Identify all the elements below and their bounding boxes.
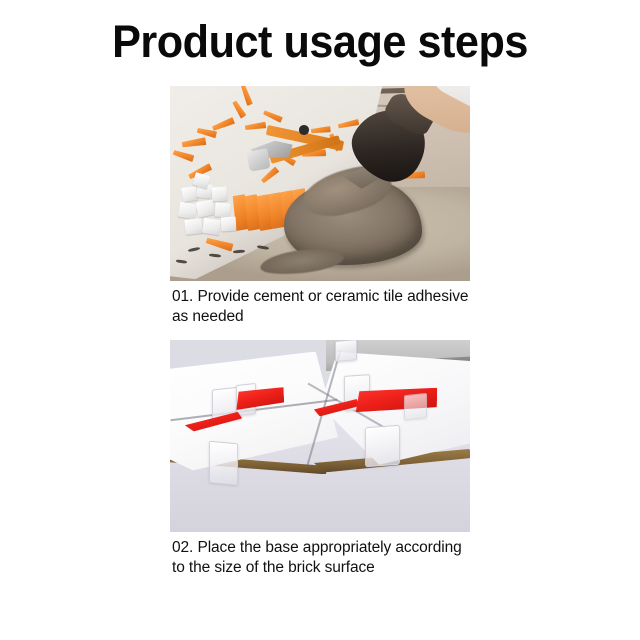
white-clip: [221, 216, 237, 230]
leveling-clip-front-center: [365, 425, 400, 468]
step-block-02: 02. Place the base appropriately accordi…: [170, 340, 470, 577]
step-02-photo: [170, 340, 470, 532]
leveling-clip-front-right: [404, 393, 427, 420]
white-clip: [212, 187, 228, 202]
white-clip: [184, 218, 202, 234]
white-clip: [215, 202, 231, 217]
leveling-pliers-grip: [246, 149, 270, 172]
step-02-caption: 02. Place the base appropriately accordi…: [170, 538, 470, 577]
white-clip: [181, 186, 198, 202]
leveling-clip-front-left: [209, 440, 238, 485]
white-clip: [202, 218, 220, 235]
leveling-clip-top-rear: [335, 340, 357, 362]
step-01-caption: 01. Provide cement or ceramic tile adhes…: [170, 287, 470, 326]
page-title: Product usage steps: [13, 17, 627, 67]
step-01-photo: [170, 86, 470, 281]
white-clip: [178, 202, 197, 219]
leveling-pliers-knob: [299, 125, 309, 135]
step-block-01: 01. Provide cement or ceramic tile adhes…: [170, 86, 470, 326]
